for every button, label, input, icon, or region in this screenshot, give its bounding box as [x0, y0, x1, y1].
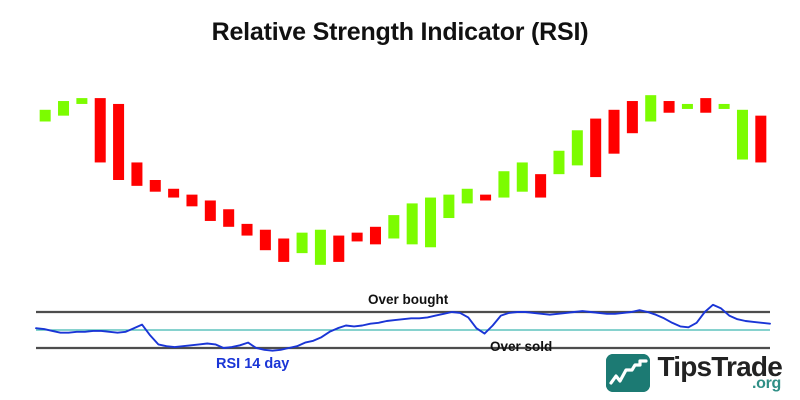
- candle-up: [517, 162, 528, 191]
- tipstrade-logo[interactable]: TipsTrade .org: [606, 353, 782, 392]
- candle-up: [737, 110, 748, 160]
- candle-down: [755, 116, 766, 163]
- candle-up: [388, 215, 399, 238]
- candle-up: [443, 195, 454, 218]
- logo-text: TipsTrade .org: [657, 353, 782, 392]
- over-sold-label: Over sold: [490, 339, 552, 354]
- rsi-chart-screenshot: Relative Strength Indicator (RSI) Over b…: [0, 0, 800, 400]
- candle-up: [297, 233, 308, 253]
- candle-down: [242, 224, 253, 236]
- candle-down: [535, 174, 546, 197]
- candle-up: [682, 104, 693, 109]
- price-candlestick-panel: [0, 60, 800, 300]
- candle-up: [645, 95, 656, 121]
- candle-up: [76, 98, 87, 104]
- rsi-series-label: RSI 14 day: [216, 356, 289, 372]
- candle-down: [627, 101, 638, 133]
- candle-down: [590, 119, 601, 178]
- candle-down: [480, 195, 491, 201]
- candle-down: [113, 104, 124, 180]
- candle-down: [205, 200, 216, 220]
- candle-down: [609, 110, 620, 154]
- candle-down: [352, 233, 363, 242]
- candle-down: [370, 227, 381, 245]
- candle-up: [462, 189, 473, 204]
- candle-up: [407, 203, 418, 244]
- candle-down: [150, 180, 161, 192]
- candle-up: [498, 171, 509, 197]
- candle-down: [700, 98, 711, 113]
- page-title: Relative Strength Indicator (RSI): [0, 18, 800, 47]
- candle-up: [58, 101, 69, 116]
- candle-down: [333, 236, 344, 262]
- candle-down: [664, 101, 675, 113]
- candle-up: [315, 230, 326, 265]
- over-bought-label: Over bought: [368, 292, 448, 307]
- candle-up: [40, 110, 51, 122]
- candle-down: [223, 209, 234, 227]
- candle-up: [572, 130, 583, 165]
- candle-down: [186, 195, 197, 207]
- candle-down: [278, 239, 289, 262]
- logo-tld: .org: [752, 376, 781, 392]
- candle-down: [95, 98, 106, 162]
- candlestick-series: [0, 60, 800, 300]
- candle-up: [719, 104, 730, 109]
- candle-up: [425, 198, 436, 248]
- chart-uptrend-icon: [606, 354, 650, 392]
- candle-down: [260, 230, 271, 250]
- candle-up: [553, 151, 564, 174]
- candle-down: [168, 189, 179, 198]
- candle-down: [131, 162, 142, 185]
